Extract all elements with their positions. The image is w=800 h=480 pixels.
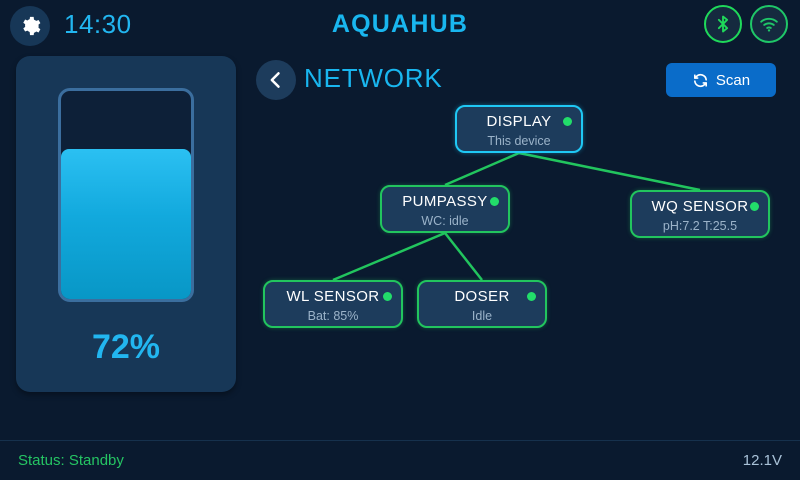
network-node-pumpassy[interactable]: PUMPASSYWC: idle <box>380 185 510 233</box>
network-node-wlsensor[interactable]: WL SENSORBat: 85% <box>263 280 403 328</box>
node-name: WQ SENSOR <box>632 198 768 215</box>
node-subtitle: pH:7.2 T:25.5 <box>632 219 768 233</box>
voltage-readout: 12.1V <box>743 452 782 469</box>
node-status-led <box>563 117 572 126</box>
node-status-led <box>527 292 536 301</box>
node-subtitle: WC: idle <box>382 214 508 228</box>
node-status-led <box>490 197 499 206</box>
bottom-status-bar: Status: Standby 12.1V <box>0 440 800 480</box>
tank-level-value: 72% <box>16 328 236 367</box>
node-subtitle: Bat: 85% <box>265 309 401 323</box>
status-text: Status: Standby <box>18 452 124 469</box>
node-name: WL SENSOR <box>265 288 401 305</box>
network-edge-pumpassy-doser <box>445 233 482 280</box>
tank-water-fill <box>61 149 191 299</box>
node-subtitle: This device <box>457 134 581 148</box>
bluetooth-status-button[interactable] <box>704 5 742 43</box>
top-status-bar: 14:30 AQUAHUB <box>0 0 800 48</box>
back-button[interactable] <box>256 60 296 100</box>
tank-outline <box>58 88 194 302</box>
wifi-icon <box>758 13 780 35</box>
network-edge-display-pumpassy <box>445 153 519 185</box>
network-edge-pumpassy-wlsensor <box>333 233 445 280</box>
chevron-left-icon <box>266 70 286 90</box>
network-node-wqsensor[interactable]: WQ SENSORpH:7.2 T:25.5 <box>630 190 770 238</box>
page-title: NETWORK <box>304 63 442 94</box>
network-edge-display-wqsensor <box>519 153 700 190</box>
scan-button-label: Scan <box>716 72 750 89</box>
node-subtitle: Idle <box>419 309 545 323</box>
scan-button[interactable]: Scan <box>666 63 776 97</box>
wifi-status-button[interactable] <box>750 5 788 43</box>
network-node-display[interactable]: DISPLAYThis device <box>455 105 583 153</box>
app-title: AQUAHUB <box>0 10 800 39</box>
node-status-led <box>750 202 759 211</box>
network-graph: DISPLAYThis devicePUMPASSYWC: idleWQ SEN… <box>250 100 800 340</box>
node-status-led <box>383 292 392 301</box>
network-node-doser[interactable]: DOSERIdle <box>417 280 547 328</box>
bluetooth-icon <box>713 14 733 34</box>
refresh-icon <box>692 72 709 89</box>
tank-level-card[interactable]: 72% <box>16 56 236 392</box>
